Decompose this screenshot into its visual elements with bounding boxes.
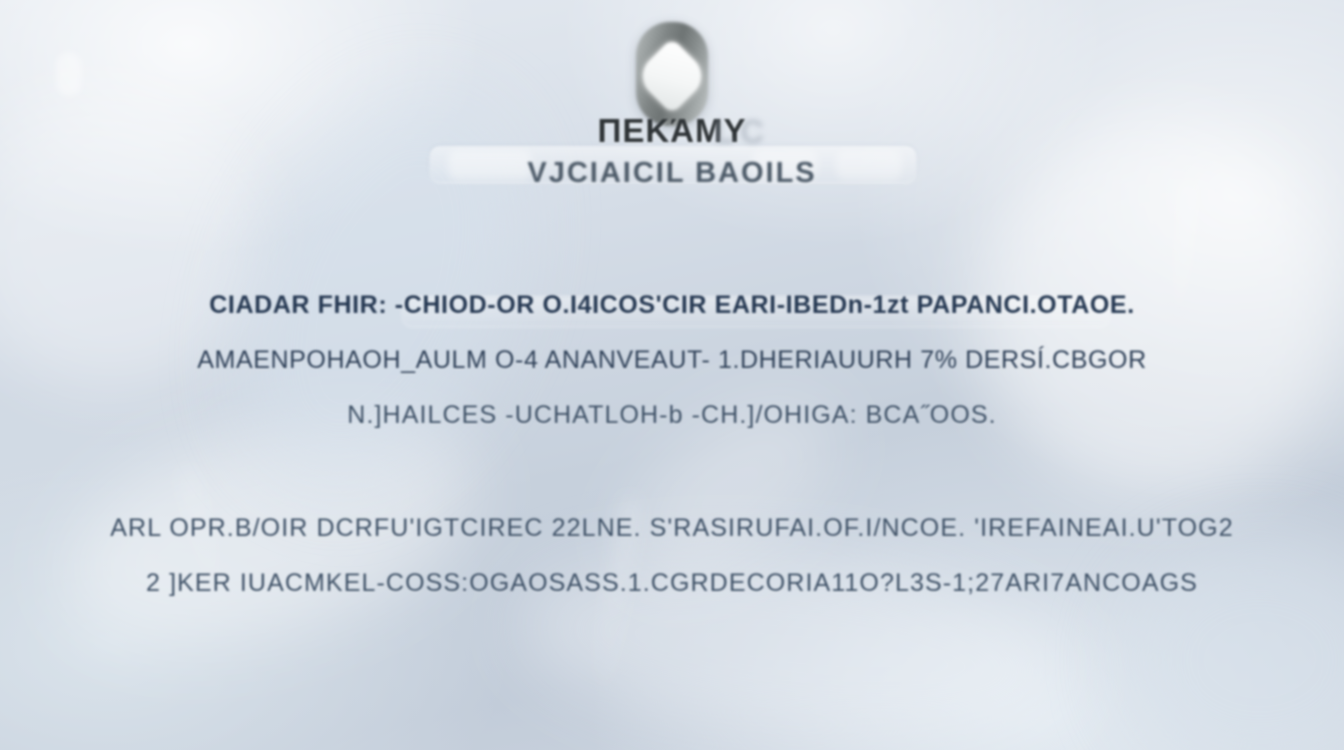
body-text-block: CIADAR FHIR: -CHIOD-OR O.I4ICOS'CIR EARI… — [0, 278, 1344, 611]
paragraph: CIADAR FHIR: -CHIOD-OR O.I4ICOS'CIR EARI… — [0, 278, 1344, 443]
body-line: ARL OPR.B/OIR DCRFU'IGTCIREC 22LNE. S'RA… — [0, 501, 1344, 556]
logo-ghost-reflection — [56, 52, 82, 96]
paragraph: ARL OPR.B/OIR DCRFU'IGTCIREC 22LNE. S'RA… — [0, 501, 1344, 611]
page-subtitle: VJCIAICIL BAOILS — [0, 157, 1344, 190]
diamond-icon — [636, 38, 708, 114]
slide-canvas: ΠΕΚΆΜΥ LC VJCIAICIL BAOILS CIADAR FHIR: … — [0, 0, 1344, 750]
page-title-ghost: LC — [714, 113, 770, 151]
body-line: AMAENPOHAOH_AULM O-4 ANANVEAUT- 1.DHERIA… — [0, 333, 1344, 388]
rounded-tag-diamond-icon — [636, 22, 708, 126]
body-line: N.]HAILCES -UCHATLOH-b -CH.]/OHIGA: BCA˝… — [0, 388, 1344, 443]
body-line: 2 ]KER IUACMKEL-COSS:OGAOSASS.1.CGRDECOR… — [0, 556, 1344, 611]
body-line: CIADAR FHIR: -CHIOD-OR O.I4ICOS'CIR EARI… — [0, 278, 1344, 333]
page-title: ΠΕΚΆΜΥ — [0, 112, 1344, 150]
brand-logo — [0, 22, 1344, 126]
